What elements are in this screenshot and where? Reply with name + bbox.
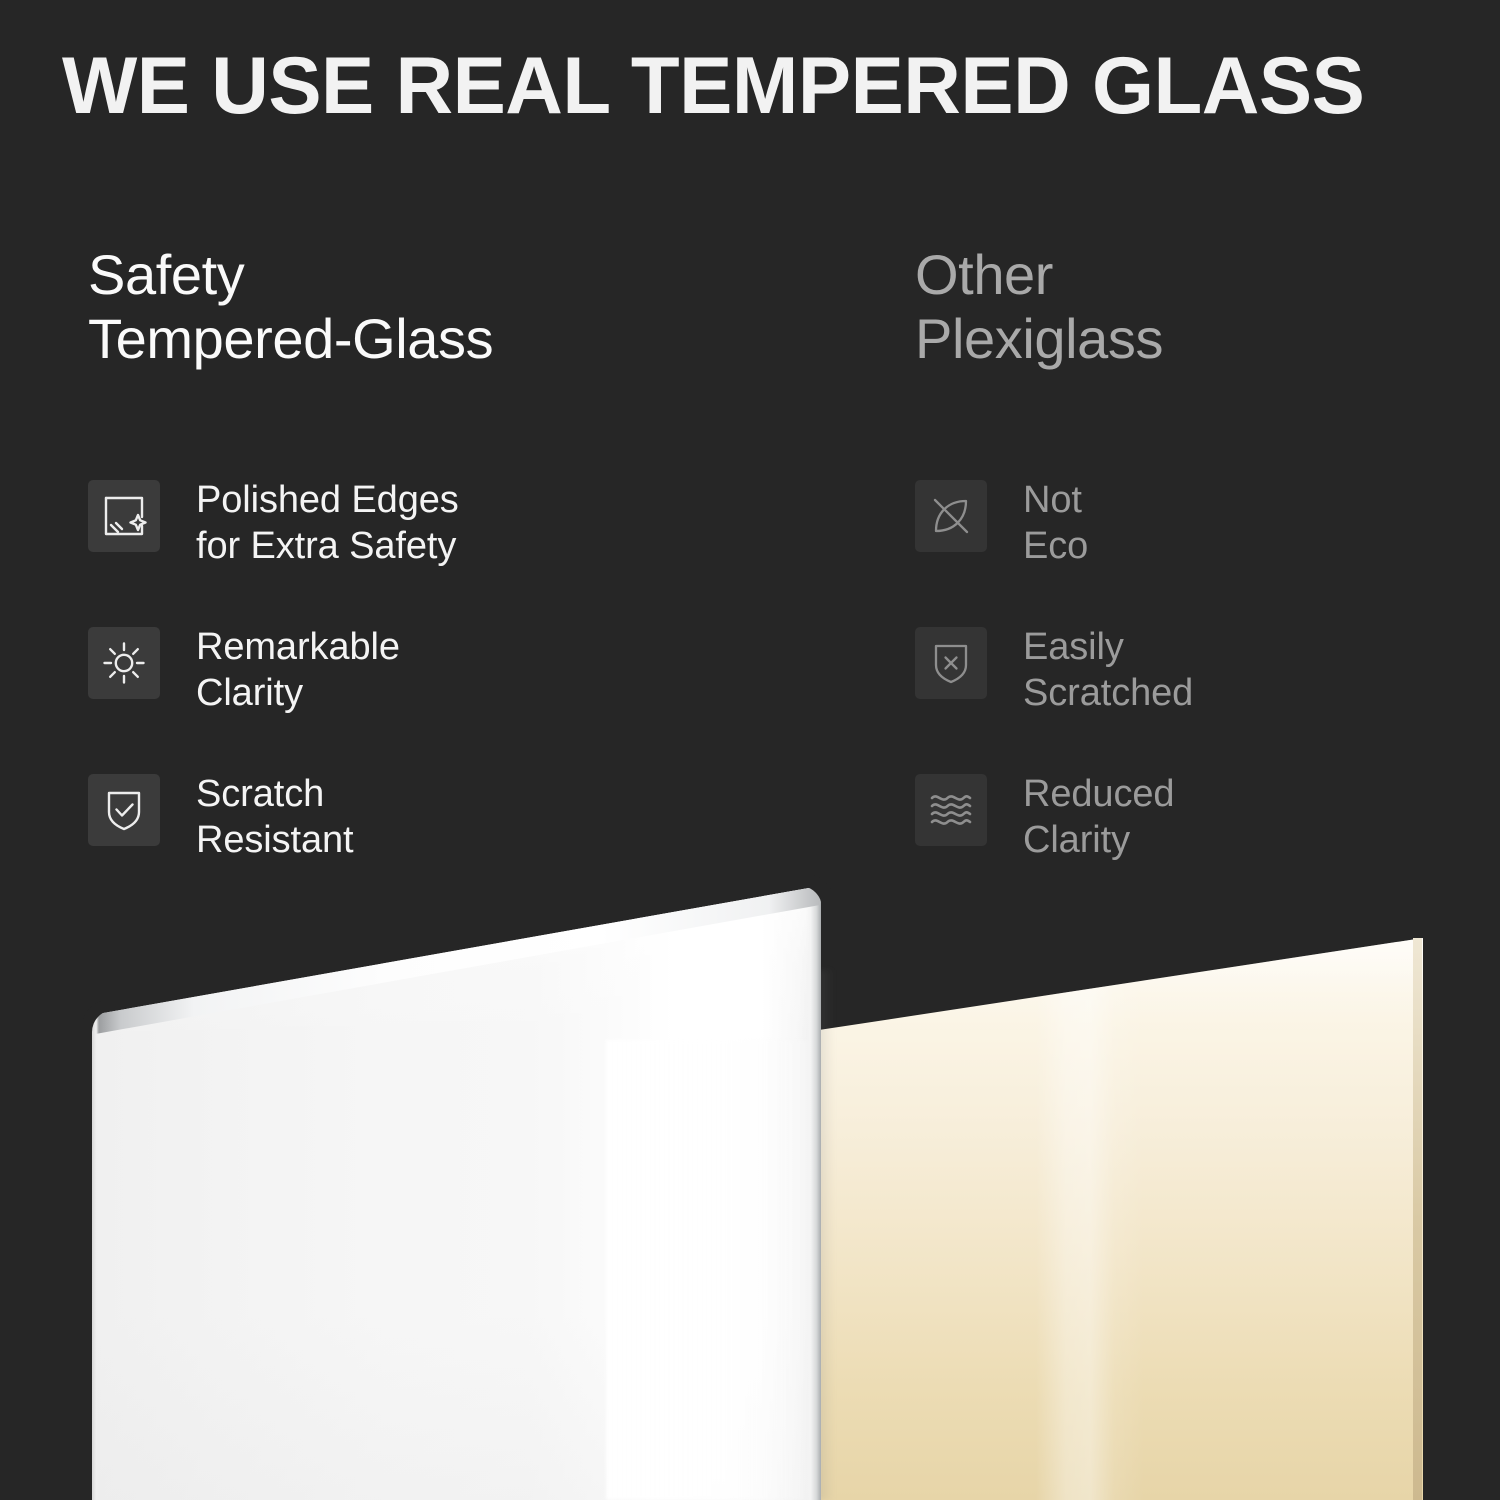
shield-x-icon <box>915 627 987 699</box>
shield-check-icon <box>88 774 160 846</box>
leaf-crossed-out-icon <box>915 480 987 552</box>
plexiglass-panel-sheen <box>818 938 1423 1500</box>
tempered-glass-panel-right-edge <box>806 886 821 1500</box>
feature-label: Polished Edges for Extra Safety <box>196 475 459 569</box>
feature-label: Remarkable Clarity <box>196 622 400 716</box>
tempered-glass-panel-left-edge <box>92 1010 99 1500</box>
feature-row: Polished Edges for Extra Safety <box>88 475 648 622</box>
feature-label: Not Eco <box>1023 475 1088 569</box>
feature-label: Scratch Resistant <box>196 769 354 863</box>
feature-list-tempered-glass: Polished Edges for Extra Safety <box>88 475 648 916</box>
feature-label: Reduced Clarity <box>1023 769 1174 863</box>
feature-row: Remarkable Clarity <box>88 622 648 769</box>
feature-list-plexiglass: Not Eco Easily Scratched <box>915 475 1475 916</box>
feature-row: Easily Scratched <box>915 622 1475 769</box>
feature-label: Easily Scratched <box>1023 622 1193 716</box>
comparison-column-plexiglass: Other Plexiglass Not Eco <box>915 243 1475 371</box>
column-heading-plexiglass: Other Plexiglass <box>915 243 1475 371</box>
wavy-lines-distortion-icon <box>915 774 987 846</box>
product-imagery <box>0 860 1500 1500</box>
infographic-root: WE USE REAL TEMPERED GLASS Safety Temper… <box>0 0 1500 1500</box>
plexiglass-panel-right-edge <box>1413 938 1422 1500</box>
sun-brightness-icon <box>88 627 160 699</box>
tempered-glass-panel-reflection <box>606 1040 820 1500</box>
column-heading-tempered-glass: Safety Tempered-Glass <box>88 243 648 371</box>
comparison-column-tempered-glass: Safety Tempered-Glass Polished Edges for… <box>88 243 648 371</box>
feature-row: Not Eco <box>915 475 1475 622</box>
polished-glass-sparkle-icon <box>88 480 160 552</box>
page-title: WE USE REAL TEMPERED GLASS <box>62 38 1431 134</box>
